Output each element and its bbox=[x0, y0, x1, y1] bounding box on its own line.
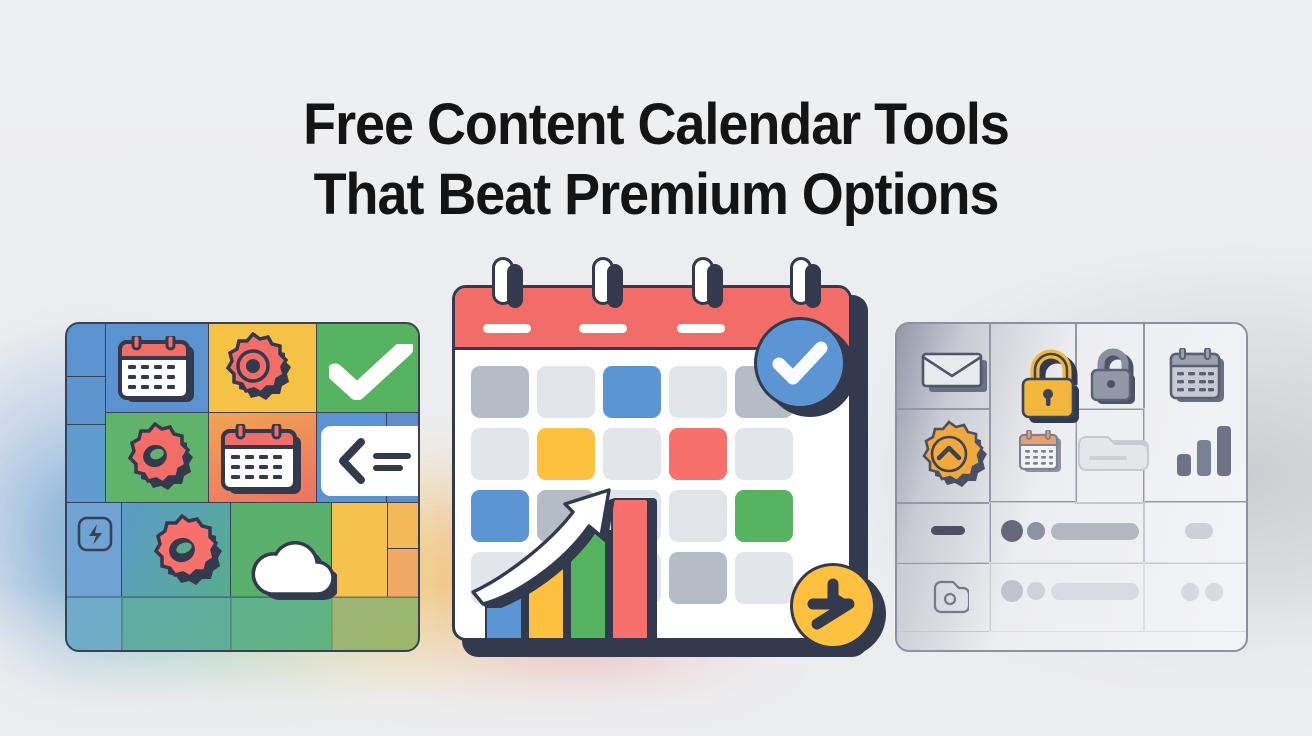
header-tab bbox=[579, 324, 627, 333]
bar-chart-icon bbox=[1175, 424, 1239, 476]
grid-cell-faded bbox=[230, 596, 333, 652]
skeleton-dot bbox=[1027, 522, 1045, 540]
gear-icon bbox=[217, 332, 299, 412]
premium-tool-grid-faded bbox=[895, 322, 1248, 652]
header-tab bbox=[483, 324, 531, 333]
grid-cell-strip bbox=[331, 502, 389, 598]
spiral-ring bbox=[692, 257, 714, 305]
spiral-ring bbox=[790, 257, 812, 305]
content-calendar bbox=[452, 285, 858, 647]
code-chevron-glyph bbox=[321, 426, 420, 496]
lock-icon bbox=[1087, 346, 1139, 408]
calendar-day bbox=[735, 428, 793, 480]
calendar-icon bbox=[117, 336, 199, 406]
calendar-icon bbox=[1169, 348, 1229, 408]
skeleton-dot bbox=[1001, 520, 1023, 542]
calendar-day bbox=[735, 490, 793, 542]
cloud-icon bbox=[241, 536, 337, 602]
share-arrow-badge[interactable] bbox=[790, 563, 876, 649]
header-tab bbox=[677, 324, 725, 333]
check-badge[interactable] bbox=[754, 317, 846, 409]
envelope-icon bbox=[921, 352, 989, 392]
calendar-day bbox=[471, 366, 529, 418]
skeleton-dot bbox=[1027, 582, 1045, 600]
gear-icon bbox=[145, 514, 231, 598]
growth-chart bbox=[473, 478, 703, 641]
camera-icon bbox=[931, 578, 969, 616]
calendar-day bbox=[735, 552, 793, 604]
bookmark-icon bbox=[75, 514, 115, 554]
page-title-line-2: That Beat Premium Options bbox=[46, 160, 1266, 230]
lock-icon bbox=[1017, 348, 1085, 426]
calendar-day bbox=[603, 366, 661, 418]
colorful-tool-grid bbox=[65, 322, 420, 652]
skeleton-pill bbox=[1185, 523, 1213, 539]
grid-cell-strip bbox=[387, 548, 420, 598]
grid-cell-faded bbox=[331, 596, 420, 652]
grid-cell-strip bbox=[65, 376, 107, 426]
calendar-icon bbox=[1019, 430, 1065, 476]
check-icon bbox=[329, 344, 413, 400]
calendar-day bbox=[669, 366, 727, 418]
spiral-ring bbox=[492, 257, 514, 305]
folder-icon bbox=[1077, 432, 1153, 474]
page-title: Free Content Calendar Tools That Beat Pr… bbox=[0, 90, 1312, 230]
gear-icon bbox=[119, 422, 201, 502]
gear-icon bbox=[913, 420, 995, 502]
spiral-ring bbox=[592, 257, 614, 305]
grid-cell-strip bbox=[65, 424, 107, 504]
skeleton-dot bbox=[1205, 583, 1223, 601]
check-icon bbox=[757, 320, 843, 406]
arrow-turn-right-icon bbox=[793, 566, 873, 646]
grid-cell-faded bbox=[65, 596, 123, 652]
calendar-day bbox=[537, 366, 595, 418]
rising-arrow-icon bbox=[469, 468, 699, 608]
grid-cell-strip bbox=[387, 502, 420, 550]
skeleton-dot bbox=[1001, 580, 1023, 602]
grid-cell-strip bbox=[65, 322, 107, 378]
page-title-line-1: Free Content Calendar Tools bbox=[303, 92, 1009, 157]
grid-cell-faded bbox=[121, 596, 232, 652]
skeleton-bar bbox=[1051, 523, 1139, 540]
skeleton-bar bbox=[1051, 583, 1139, 600]
code-chevron-icon bbox=[321, 426, 420, 496]
skeleton-dot bbox=[1181, 583, 1199, 601]
dash-placeholder bbox=[931, 526, 965, 535]
calendar-icon bbox=[219, 424, 307, 500]
